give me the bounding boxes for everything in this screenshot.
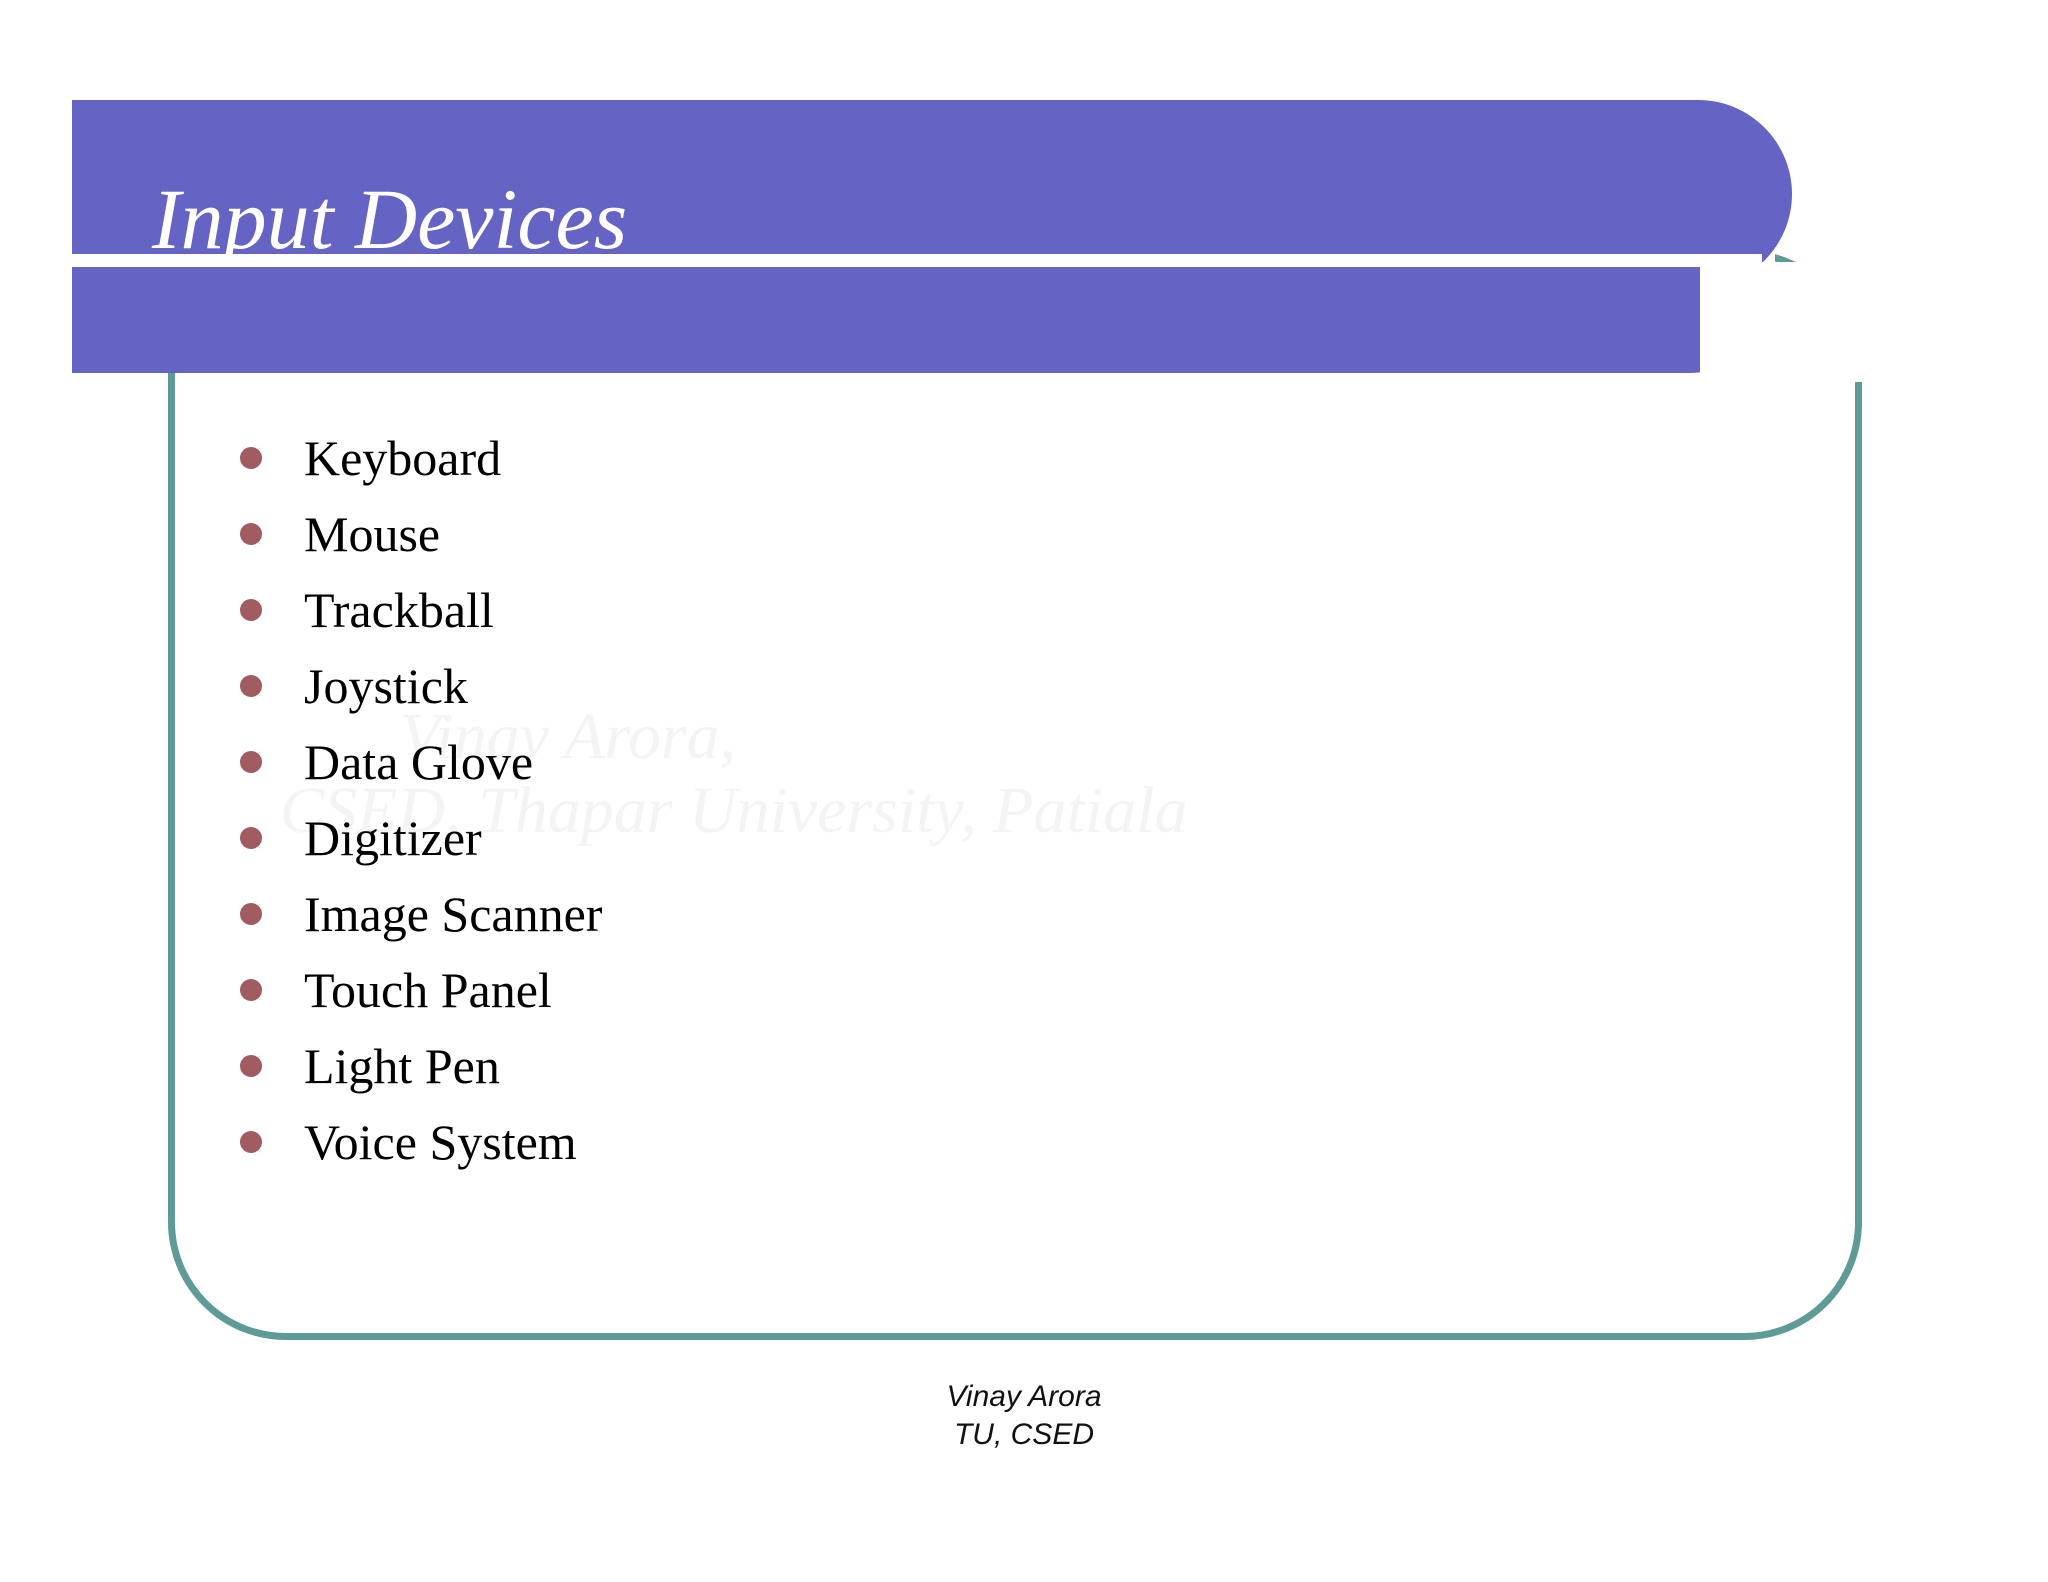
bullet-dot-icon — [240, 1131, 262, 1153]
bullet-list: Keyboard Mouse Trackball Joystick Data G… — [240, 420, 602, 1180]
bullet-dot-icon — [240, 903, 262, 925]
list-item-label: Joystick — [304, 657, 468, 715]
slide-canvas: Input Devices Vinay Arora, CSED, Thapar … — [0, 0, 2048, 1582]
list-item: Joystick — [240, 648, 602, 724]
bullet-dot-icon — [240, 1055, 262, 1077]
list-item-label: Light Pen — [304, 1037, 500, 1095]
list-item: Voice System — [240, 1104, 602, 1180]
list-item: Digitizer — [240, 800, 602, 876]
bullet-dot-icon — [240, 751, 262, 773]
footer-line-1: Vinay Arora — [0, 1378, 2048, 1416]
bullet-dot-icon — [240, 827, 262, 849]
list-item-label: Data Glove — [304, 733, 533, 791]
footer-line-2: TU, CSED — [0, 1416, 2048, 1454]
bullet-dot-icon — [240, 979, 262, 1001]
bullet-dot-icon — [240, 523, 262, 545]
list-item-label: Digitizer — [304, 809, 482, 867]
list-item: Light Pen — [240, 1028, 602, 1104]
title-banner-lower — [72, 267, 1792, 373]
list-item: Data Glove — [240, 724, 602, 800]
list-item-label: Image Scanner — [304, 885, 602, 943]
list-item: Keyboard — [240, 420, 602, 496]
list-item-label: Trackball — [304, 581, 494, 639]
bullet-dot-icon — [240, 599, 262, 621]
list-item: Trackball — [240, 572, 602, 648]
list-item: Touch Panel — [240, 952, 602, 1028]
list-item-label: Touch Panel — [304, 961, 552, 1019]
list-item-label: Mouse — [304, 505, 440, 563]
bullet-dot-icon — [240, 447, 262, 469]
title-banner-lower-mask — [1700, 262, 1880, 382]
list-item: Mouse — [240, 496, 602, 572]
bullet-dot-icon — [240, 675, 262, 697]
list-item-label: Keyboard — [304, 429, 501, 487]
list-item: Image Scanner — [240, 876, 602, 952]
list-item-label: Voice System — [304, 1113, 577, 1171]
page-title: Input Devices — [152, 176, 627, 262]
slide-footer: Vinay Arora TU, CSED — [0, 1378, 2048, 1453]
